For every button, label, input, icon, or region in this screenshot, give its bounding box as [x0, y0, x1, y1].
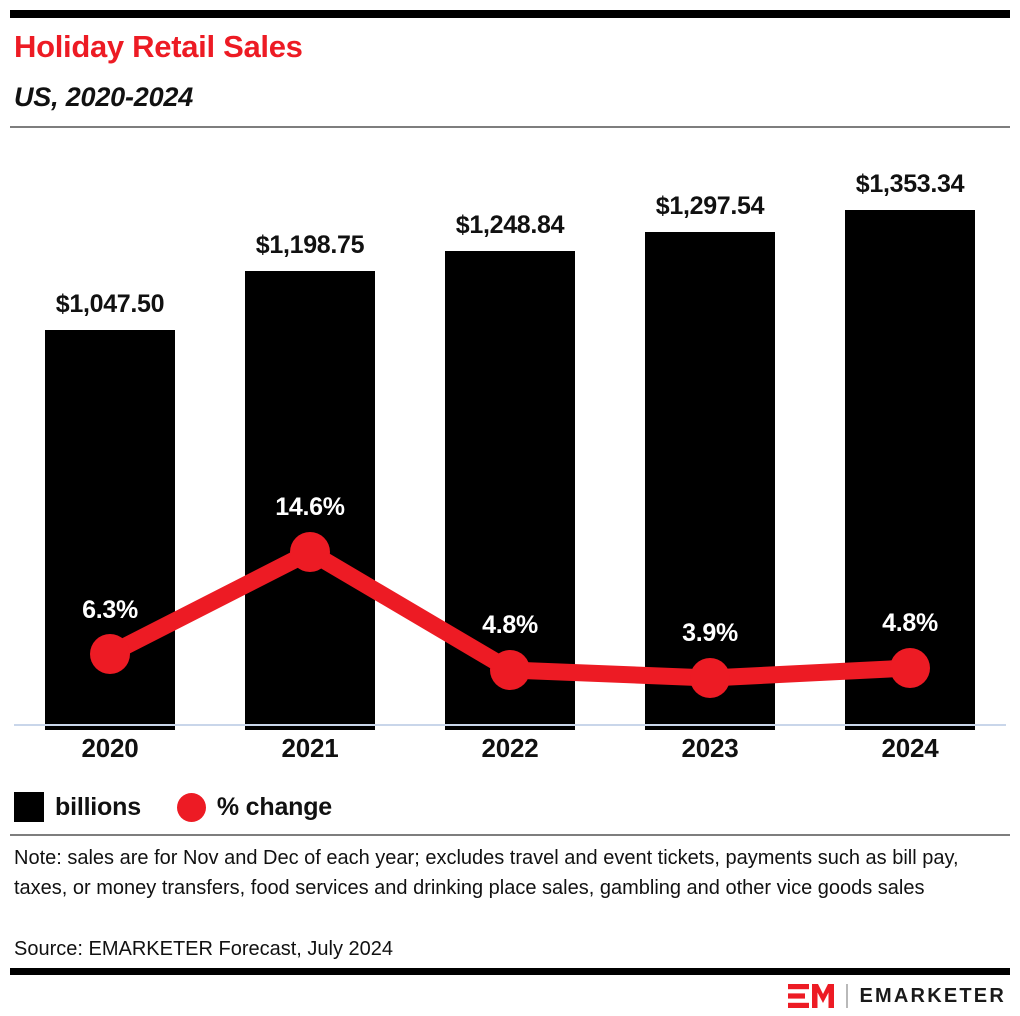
footer-divider: [10, 834, 1010, 836]
legend-item-billions: billions: [14, 792, 141, 822]
page-title: Holiday Retail Sales: [14, 28, 303, 66]
x-tick-2020: 2020: [40, 733, 180, 764]
chart-note: Note: sales are for Nov and Dec of each …: [14, 843, 974, 903]
top-rule: [10, 10, 1010, 18]
percent-change-line: [0, 130, 1020, 730]
x-tick-2022: 2022: [440, 733, 580, 764]
bottom-rule: [10, 968, 1010, 975]
pct-value-2024: 4.8%: [835, 609, 985, 638]
x-tick-2023: 2023: [640, 733, 780, 764]
pct-value-2022: 4.8%: [435, 611, 585, 640]
pct-value-2023: 3.9%: [635, 619, 785, 648]
chart-source: Source: EMARKETER Forecast, July 2024: [14, 935, 393, 963]
legend-label-percent-change: % change: [217, 793, 332, 822]
emarketer-logo-icon: [788, 983, 834, 1009]
pct-value-2020: 6.3%: [35, 596, 185, 625]
plot-area: $1,047.50 $1,198.75 $1,248.84 $1,297.54 …: [0, 130, 1020, 730]
x-tick-2024: 2024: [840, 733, 980, 764]
x-axis: 2020 2021 2022 2023 2024: [0, 733, 1020, 773]
x-tick-2021: 2021: [240, 733, 380, 764]
legend-label-billions: billions: [55, 793, 141, 822]
legend-item-percent-change: % change: [177, 793, 332, 822]
circle-swatch-icon: [177, 793, 206, 822]
pct-value-2021: 14.6%: [235, 493, 385, 522]
brand-name: EMARKETER: [860, 985, 1006, 1008]
x-axis-line: [14, 724, 1006, 726]
chart-legend: billions % change: [14, 790, 368, 824]
brand-lockup: EMARKETER: [788, 982, 1006, 1010]
header-divider: [10, 126, 1010, 128]
brand-divider: [846, 984, 848, 1008]
square-swatch-icon: [14, 792, 44, 822]
page-subtitle: US, 2020-2024: [14, 80, 193, 114]
chart-page: Holiday Retail Sales US, 2020-2024 $1,04…: [0, 0, 1020, 1016]
